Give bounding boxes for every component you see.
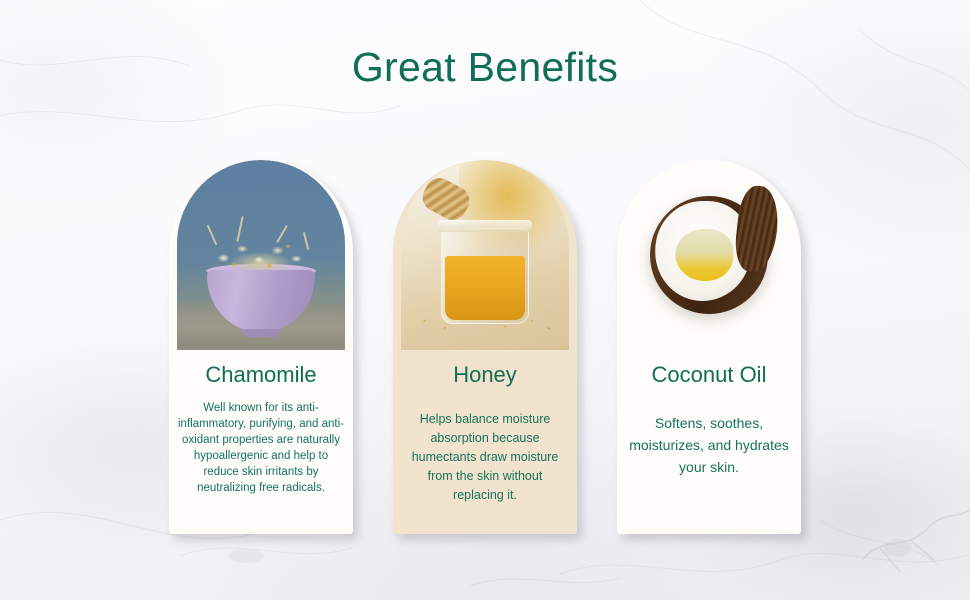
benefit-card-honey[interactable]: Honey Helps balance moisture absorption … [393, 160, 577, 534]
benefit-card-coconut-oil[interactable]: Coconut Oil Softens, soothes, moisturize… [617, 160, 801, 534]
card-title-chamomile: Chamomile [205, 362, 316, 388]
honey-image [393, 160, 577, 350]
card-title-coconut-oil: Coconut Oil [652, 362, 767, 388]
card-description-honey: Helps balance moisture absorption becaus… [393, 410, 577, 505]
card-description-coconut-oil: Softens, soothes, moisturizes, and hydra… [617, 412, 801, 478]
chamomile-bowl-illustration [177, 160, 345, 350]
benefit-card-chamomile[interactable]: Chamomile Well known for its anti-inflam… [169, 160, 353, 534]
card-title-honey: Honey [453, 362, 517, 388]
coconut-oil-image [617, 160, 801, 350]
page-title: Great Benefits [0, 44, 970, 90]
chamomile-image [169, 160, 353, 350]
honey-jar-illustration [401, 160, 569, 350]
coconut-illustration [625, 160, 793, 350]
card-description-chamomile: Well known for its anti-inflammatory, pu… [169, 400, 353, 496]
benefits-card-row: Chamomile Well known for its anti-inflam… [0, 160, 970, 534]
